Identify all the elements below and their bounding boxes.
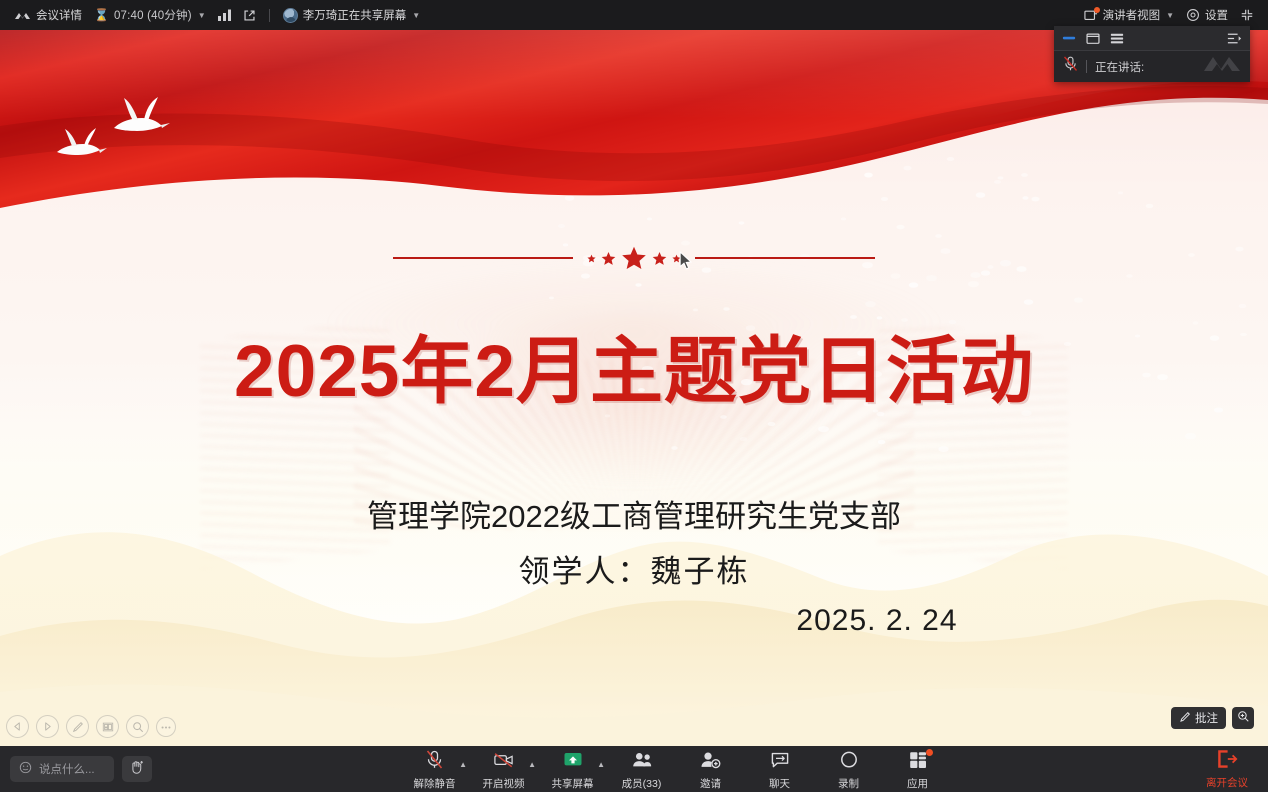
star-icon bbox=[621, 245, 647, 271]
star-icon bbox=[672, 254, 681, 263]
floating-panel-header bbox=[1054, 26, 1250, 50]
toolbar-item-chat[interactable]: 聊天 bbox=[746, 747, 813, 791]
collapse-icon bbox=[1240, 8, 1254, 22]
hourglass-icon: ⌛ bbox=[94, 8, 109, 22]
slide-grid-button[interactable] bbox=[96, 715, 119, 738]
gear-icon bbox=[1186, 8, 1200, 22]
star-divider bbox=[0, 245, 1268, 271]
toolbar-divider bbox=[269, 9, 270, 22]
next-slide-button[interactable] bbox=[36, 715, 59, 738]
toolbar-item-record[interactable]: 录制 bbox=[815, 747, 882, 791]
zoom-tool-button[interactable] bbox=[126, 715, 149, 738]
invite-user-icon bbox=[700, 750, 721, 773]
window-icon[interactable] bbox=[1086, 32, 1100, 45]
app-logo-icon bbox=[14, 10, 31, 21]
star-icon bbox=[601, 251, 616, 266]
smiley-icon bbox=[19, 761, 32, 777]
toolbar-item-label: 聊天 bbox=[769, 776, 790, 791]
avatar bbox=[283, 8, 298, 23]
mic-muted-icon bbox=[425, 750, 444, 773]
mic-muted-icon bbox=[1063, 56, 1078, 77]
meeting-bottom-toolbar: 说点什么... bbox=[0, 746, 1268, 792]
meeting-timer[interactable]: ⌛ 07:40 (40分钟) ▼ bbox=[88, 4, 212, 26]
apps-grid-icon bbox=[908, 750, 928, 773]
settings-label: 设置 bbox=[1205, 7, 1228, 23]
screen-share-notice-label: 李万琦正在共享屏幕 bbox=[303, 7, 407, 23]
meeting-details-label: 会议详情 bbox=[36, 7, 82, 23]
raise-hand-icon bbox=[129, 759, 145, 780]
divider-stars bbox=[573, 245, 695, 271]
floating-panel-body: 正在讲话: bbox=[1054, 50, 1250, 82]
more-options-button[interactable] bbox=[156, 717, 176, 737]
divider-line-right bbox=[695, 257, 875, 260]
open-external-icon bbox=[243, 9, 256, 22]
meeting-details-button[interactable]: 会议详情 bbox=[8, 4, 88, 26]
apps-badge-dot bbox=[926, 749, 933, 756]
divider-line-left bbox=[393, 257, 573, 260]
toolbar-item-unmute[interactable]: 解除静音 ▲ bbox=[401, 747, 468, 791]
raise-hand-button[interactable] bbox=[122, 756, 152, 782]
speaking-label: 正在讲话: bbox=[1095, 59, 1144, 75]
toolbar-item-label: 解除静音 bbox=[414, 776, 456, 791]
leave-meeting-button[interactable]: 离开会议 bbox=[1200, 746, 1254, 792]
toolbar-item-label: 成员(33) bbox=[622, 776, 662, 791]
chevron-down-icon: ▼ bbox=[198, 11, 206, 20]
popout-window-button[interactable] bbox=[237, 4, 262, 26]
signal-bars-icon bbox=[218, 9, 231, 21]
presenter-view-button[interactable]: 演讲者视图 ▼ bbox=[1078, 4, 1180, 26]
ppt-presenter-controls bbox=[6, 715, 176, 738]
expand-sidebar-icon[interactable] bbox=[1227, 32, 1242, 45]
toolbar-item-participants[interactable]: 成员(33) bbox=[608, 747, 675, 791]
chat-input-placeholder: 说点什么... bbox=[39, 761, 95, 777]
dove-icon bbox=[100, 96, 172, 148]
annotation-toolbar: 批注 bbox=[1171, 707, 1254, 729]
bottom-toolbar-items: 解除静音 ▲ 开启视频 ▲ bbox=[152, 747, 1200, 791]
presenter-view-label: 演讲者视图 bbox=[1103, 7, 1161, 23]
pen-tool-button[interactable] bbox=[66, 715, 89, 738]
toolbar-item-apps[interactable]: 应用 bbox=[884, 747, 951, 791]
leave-meeting-icon bbox=[1216, 749, 1238, 772]
chat-bubble-icon bbox=[770, 750, 790, 773]
notification-dot bbox=[1094, 7, 1100, 13]
slide-title: 2025年2月主题党日活动 bbox=[0, 312, 1268, 418]
chevron-down-icon: ▼ bbox=[1166, 11, 1174, 20]
toolbar-item-share-screen[interactable]: 共享屏幕 ▲ bbox=[539, 747, 606, 791]
prev-slide-button[interactable] bbox=[6, 715, 29, 738]
toolbar-item-label: 共享屏幕 bbox=[552, 776, 594, 791]
toolbar-item-start-video[interactable]: 开启视频 ▲ bbox=[470, 747, 537, 791]
meeting-window: 会议详情 ⌛ 07:40 (40分钟) ▼ 李万琦正在共享屏幕 ▼ bbox=[0, 0, 1268, 792]
chevron-up-icon[interactable]: ▲ bbox=[597, 760, 605, 769]
slide-date: 2025. 2. 24 bbox=[0, 604, 1268, 638]
dove-icon bbox=[47, 126, 109, 170]
chevron-up-icon[interactable]: ▲ bbox=[528, 760, 536, 769]
toolbar-item-label: 录制 bbox=[838, 776, 859, 791]
toolbar-item-label: 邀请 bbox=[700, 776, 721, 791]
bottom-left-group: 说点什么... bbox=[0, 756, 152, 782]
presenter-view-icon bbox=[1084, 9, 1098, 22]
toolbar-item-label: 开启视频 bbox=[483, 776, 525, 791]
pen-icon bbox=[1179, 711, 1191, 726]
exit-fullscreen-button[interactable] bbox=[1234, 4, 1260, 26]
shared-screen-slide: 2025年2月主题党日活动 管理学院2022级工商管理研究生党支部 领学人：魏子… bbox=[0, 30, 1268, 746]
bottom-right-group: 离开会议 bbox=[1200, 746, 1268, 792]
chat-input[interactable]: 说点什么... bbox=[10, 756, 114, 782]
settings-button[interactable]: 设置 bbox=[1180, 4, 1234, 26]
minimize-icon[interactable] bbox=[1062, 32, 1076, 44]
panel-divider bbox=[1086, 60, 1087, 73]
toolbar-item-label: 应用 bbox=[907, 776, 928, 791]
magnifier-plus-icon bbox=[1237, 710, 1250, 726]
slide-zoom-button[interactable] bbox=[1232, 707, 1254, 729]
annotate-label: 批注 bbox=[1195, 710, 1218, 726]
chevron-down-icon: ▼ bbox=[412, 11, 420, 20]
star-icon bbox=[652, 251, 667, 266]
meeting-duration-label: 07:40 (40分钟) bbox=[114, 7, 192, 23]
network-quality-button[interactable] bbox=[212, 4, 237, 26]
screen-share-notice[interactable]: 李万琦正在共享屏幕 ▼ bbox=[277, 4, 426, 26]
annotate-button[interactable]: 批注 bbox=[1171, 707, 1226, 729]
toolbar-item-invite[interactable]: 邀请 bbox=[677, 747, 744, 791]
list-view-icon[interactable] bbox=[1110, 32, 1124, 45]
record-circle-icon bbox=[839, 750, 859, 773]
slide-subtitle-presenter: 领学人：魏子栋 bbox=[0, 546, 1268, 591]
chevron-up-icon[interactable]: ▲ bbox=[459, 760, 467, 769]
share-screen-icon bbox=[563, 750, 583, 773]
camera-off-icon bbox=[493, 750, 514, 773]
slide-subtitle-org: 管理学院2022级工商管理研究生党支部 bbox=[0, 491, 1268, 536]
participants-icon bbox=[631, 750, 653, 773]
watermark-logo-icon bbox=[1202, 53, 1242, 78]
leave-meeting-label: 离开会议 bbox=[1206, 775, 1248, 790]
star-icon bbox=[587, 254, 596, 263]
floating-video-panel: 正在讲话: bbox=[1054, 26, 1250, 82]
